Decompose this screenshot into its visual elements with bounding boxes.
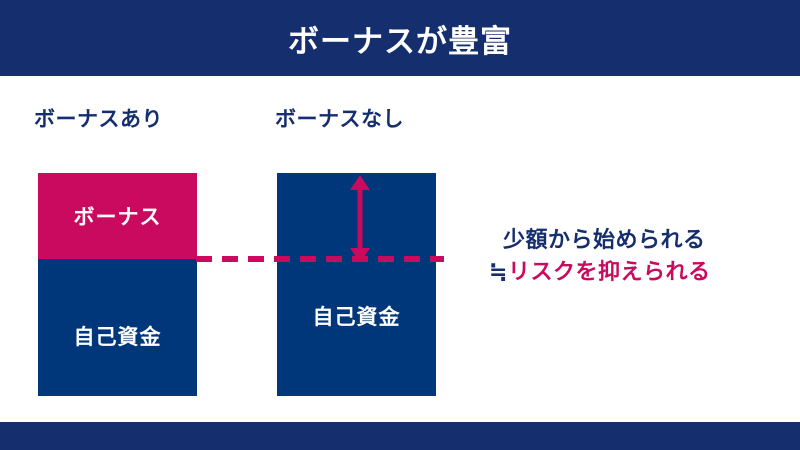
- double-headed-arrow-icon: [345, 174, 375, 264]
- benefit-text-block: 少額から始められる ≒リスクを抑えられる: [503, 224, 793, 288]
- bar-segment-bonus: ボーナス: [38, 173, 197, 259]
- slide-canvas: ボーナスが豊富 ボーナスあり ボーナスなし ボーナス 自己資金 自己資金 少額か…: [0, 0, 800, 450]
- column-caption-with-bonus: ボーナスあり: [34, 103, 163, 133]
- column-caption-without-bonus: ボーナスなし: [275, 103, 404, 133]
- approximately-equal-icon: ≒: [489, 259, 508, 284]
- footer-band: [0, 422, 800, 450]
- bar-with-bonus: ボーナス 自己資金: [38, 173, 197, 396]
- benefit-text-line-1: 少額から始められる: [503, 224, 793, 256]
- page-title: ボーナスが豊富: [0, 0, 800, 76]
- benefit-text-line-2-label: リスクを抑えられる: [508, 259, 711, 284]
- reference-dashed-line: [196, 256, 444, 262]
- bar-segment-own-funds-left: 自己資金: [38, 259, 197, 396]
- benefit-text-line-2: ≒リスクを抑えられる: [489, 256, 793, 288]
